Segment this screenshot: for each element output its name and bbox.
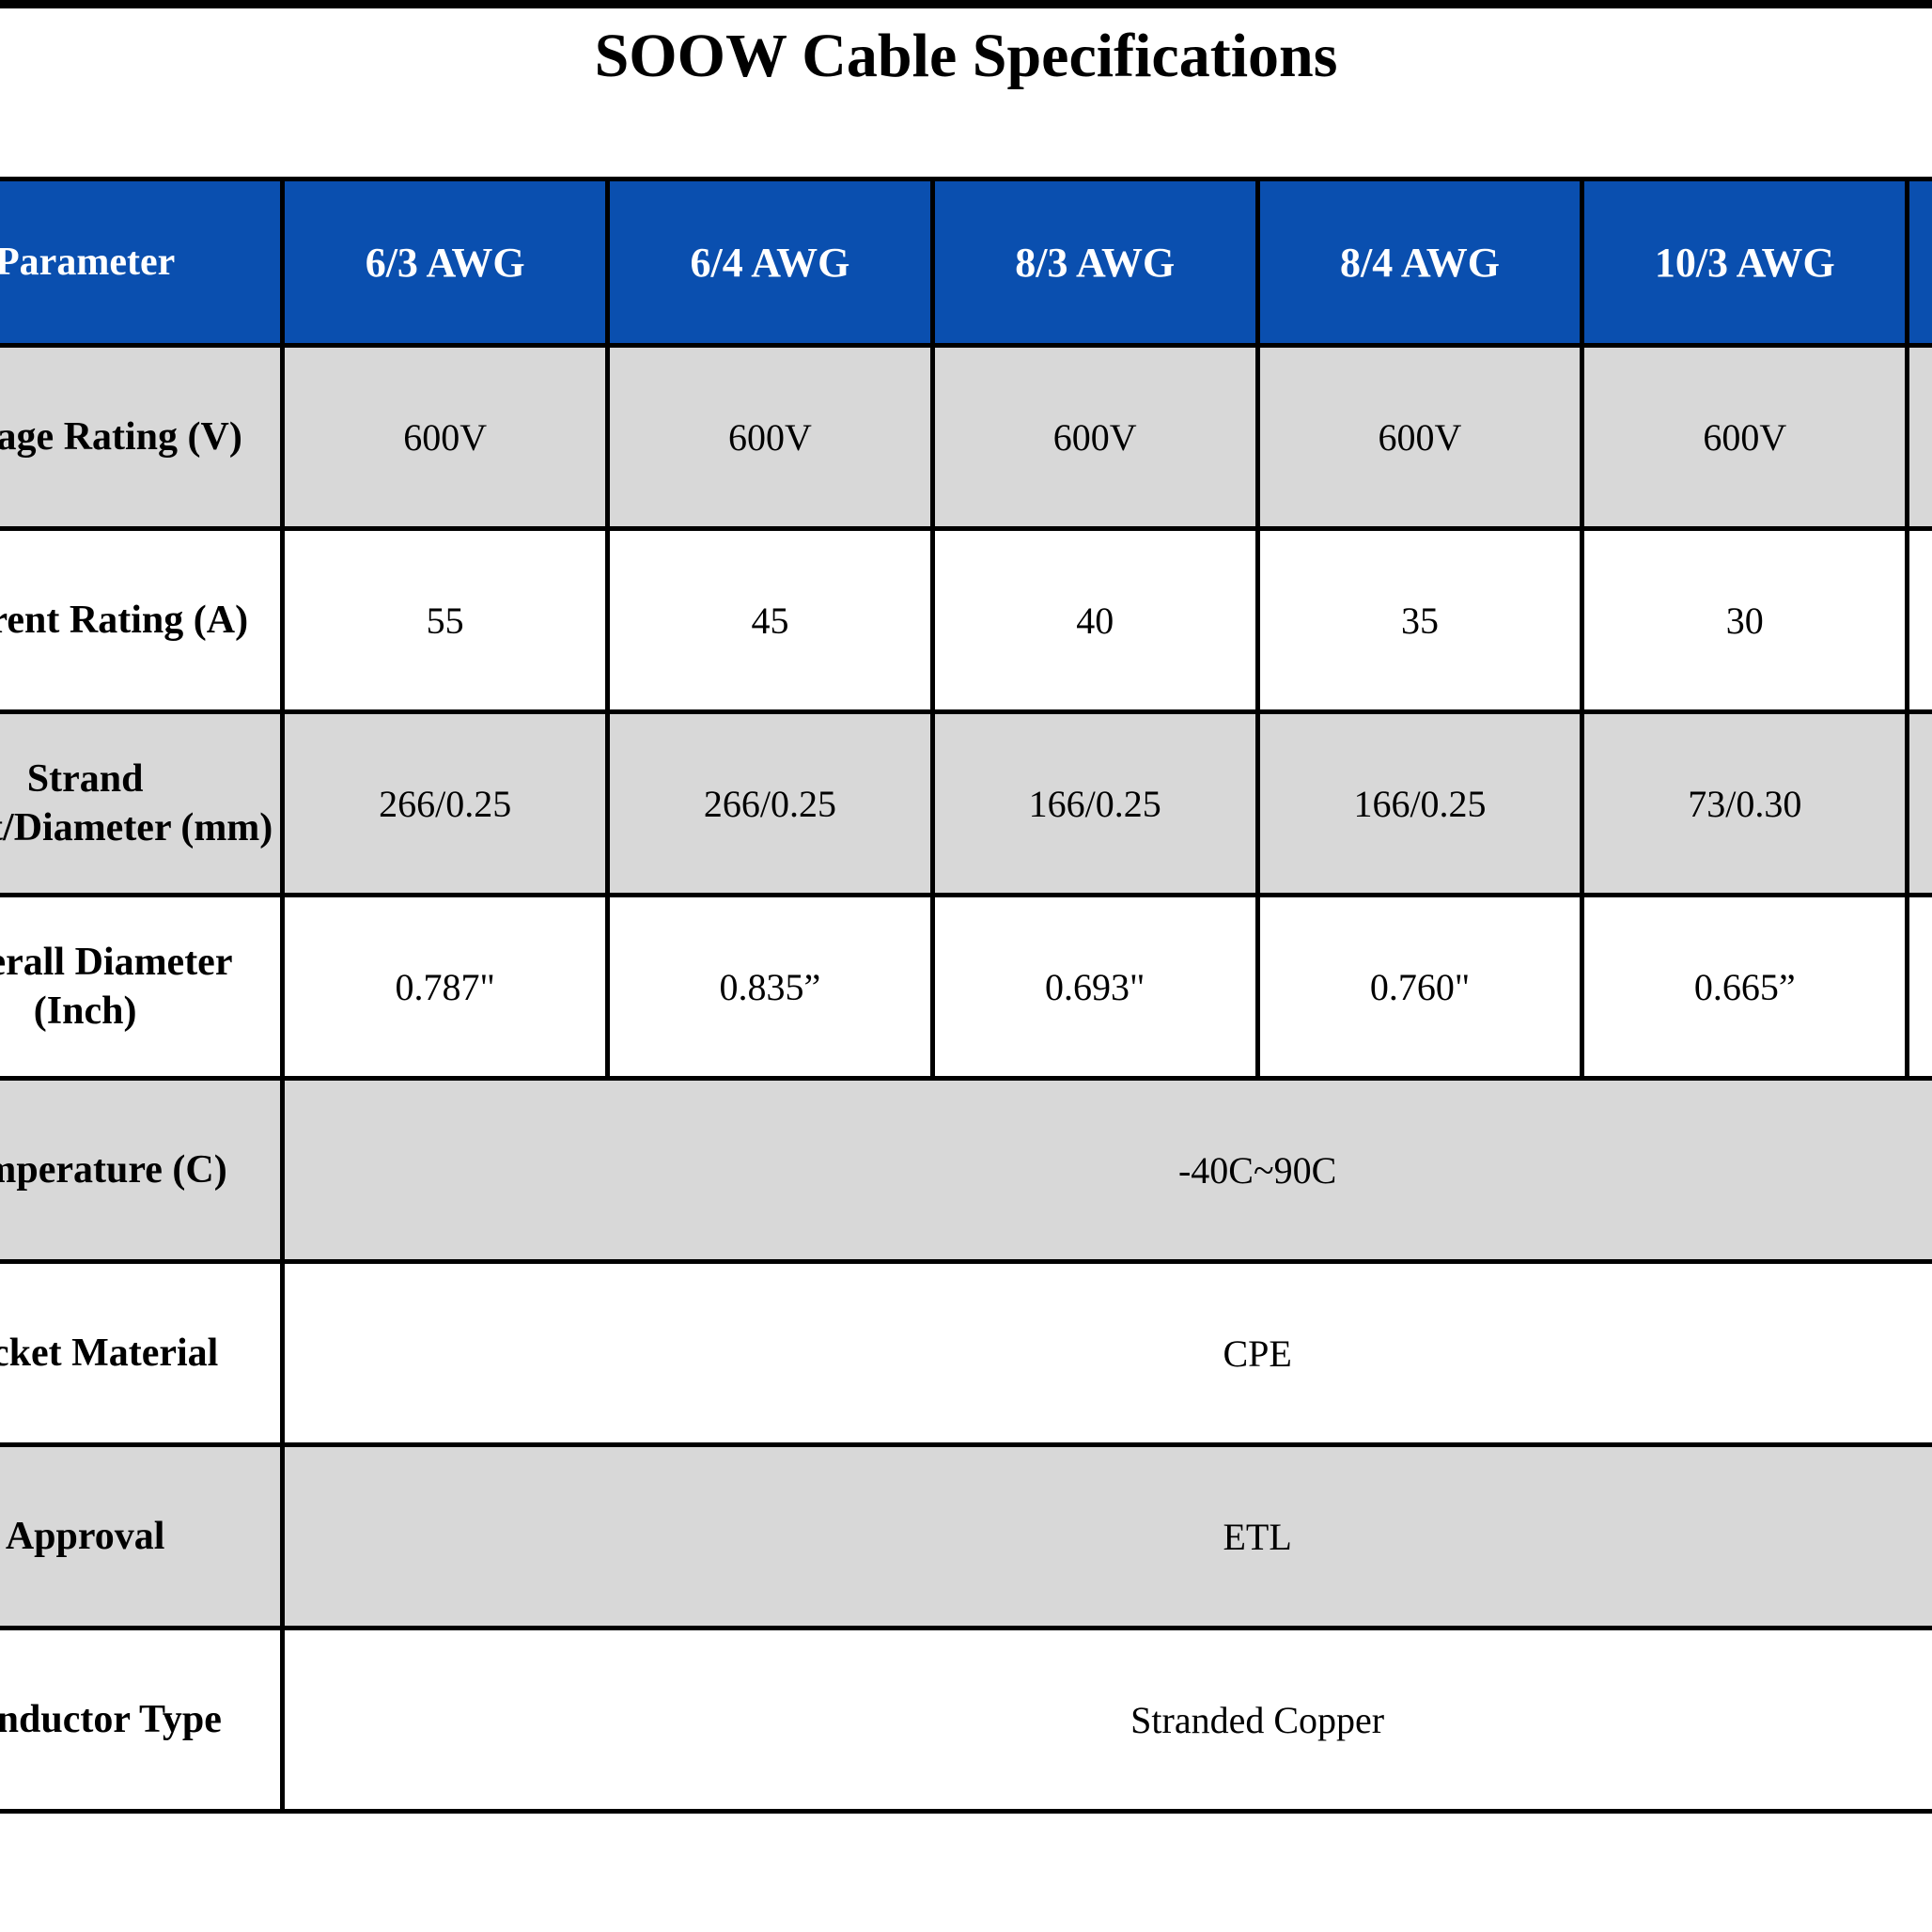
table-cell: 166/0.25 (932, 712, 1257, 896)
table-cell: 266/0.25 (608, 712, 933, 896)
column-header-10-3-awg: 10/3 AWG (1582, 179, 1908, 346)
table-row: Voltage Rating (V) 600V 600V 600V 600V 6… (0, 346, 1932, 529)
column-header-8-4-awg: 8/4 AWG (1257, 179, 1582, 346)
table-cell: 600V (608, 346, 933, 529)
table-cell: 600V (1257, 346, 1582, 529)
table-cell: 25 (1908, 529, 1932, 712)
table-cell: 45 (608, 529, 933, 712)
row-label: Strand Count/Diameter (mm) (0, 712, 283, 896)
row-label: Temperature (C) (0, 1079, 283, 1262)
table-row: Jacket Material CPE (0, 1262, 1932, 1445)
table-head: Parameter 6/3 AWG 6/4 AWG 8/3 AWG 8/4 AW… (0, 179, 1932, 346)
table-cell: 35 (1257, 529, 1582, 712)
table-row: Current Rating (A) 55 45 40 35 30 25 (0, 529, 1932, 712)
row-label: Voltage Rating (V) (0, 346, 283, 529)
table-cell: 73/0.30 (1908, 712, 1932, 896)
header-row: Parameter 6/3 AWG 6/4 AWG 8/3 AWG 8/4 AW… (0, 179, 1932, 346)
table-cell: 0.787" (283, 896, 608, 1079)
row-label: Jacket Material (0, 1262, 283, 1445)
table-cell: 73/0.30 (1582, 712, 1908, 896)
table-cell: 166/0.25 (1257, 712, 1582, 896)
table-cell: 600V (283, 346, 608, 529)
row-label: Conductor Type (0, 1628, 283, 1812)
spec-table-viewport: Parameter 6/3 AWG 6/4 AWG 8/3 AWG 8/4 AW… (0, 177, 1932, 1932)
spec-table: Parameter 6/3 AWG 6/4 AWG 8/3 AWG 8/4 AW… (0, 177, 1932, 1814)
table-cell-merged: CPE (283, 1262, 1932, 1445)
table-cell: 600V (1582, 346, 1908, 529)
row-label: Current Rating (A) (0, 529, 283, 712)
table-row: Strand Count/Diameter (mm) 266/0.25 266/… (0, 712, 1932, 896)
row-label: Approval (0, 1445, 283, 1628)
table-row: Temperature (C) -40C~90C (0, 1079, 1932, 1262)
page-title: SOOW Cable Specifications (0, 21, 1932, 92)
table-cell-merged: Stranded Copper (283, 1628, 1932, 1812)
table-cell: 30 (1582, 529, 1908, 712)
table-cell-merged: -40C~90C (283, 1079, 1932, 1262)
table-cell: 0.665” (1582, 896, 1908, 1079)
table-cell: 0.693" (932, 896, 1257, 1079)
table-cell: 0.760" (1257, 896, 1582, 1079)
table-cell-merged: ETL (283, 1445, 1932, 1628)
table-cell: 0.835” (608, 896, 933, 1079)
table-row: Conductor Type Stranded Copper (0, 1628, 1932, 1812)
table-body: Voltage Rating (V) 600V 600V 600V 600V 6… (0, 346, 1932, 1812)
table-cell: 55 (283, 529, 608, 712)
table-cell: 600V (1908, 346, 1932, 529)
table-row: Approval ETL (0, 1445, 1932, 1628)
column-header-6-3-awg: 6/3 AWG (283, 179, 608, 346)
table-row: Overall Diameter (Inch) 0.787" 0.835” 0.… (0, 896, 1932, 1079)
row-label: Overall Diameter (Inch) (0, 896, 283, 1079)
spec-sheet-page: SOOW Cable Specifications Parameter 6/3 … (0, 0, 1932, 1932)
column-header-8-3-awg: 8/3 AWG (932, 179, 1257, 346)
table-cell: 266/0.25 (283, 712, 608, 896)
table-cell: 0.720" (1908, 896, 1932, 1079)
column-header-parameter: Parameter (0, 179, 283, 346)
column-header-10-4-awg: 10/4 AWG (1908, 179, 1932, 346)
table-cell: 40 (932, 529, 1257, 712)
column-header-6-4-awg: 6/4 AWG (608, 179, 933, 346)
table-cell: 600V (932, 346, 1257, 529)
